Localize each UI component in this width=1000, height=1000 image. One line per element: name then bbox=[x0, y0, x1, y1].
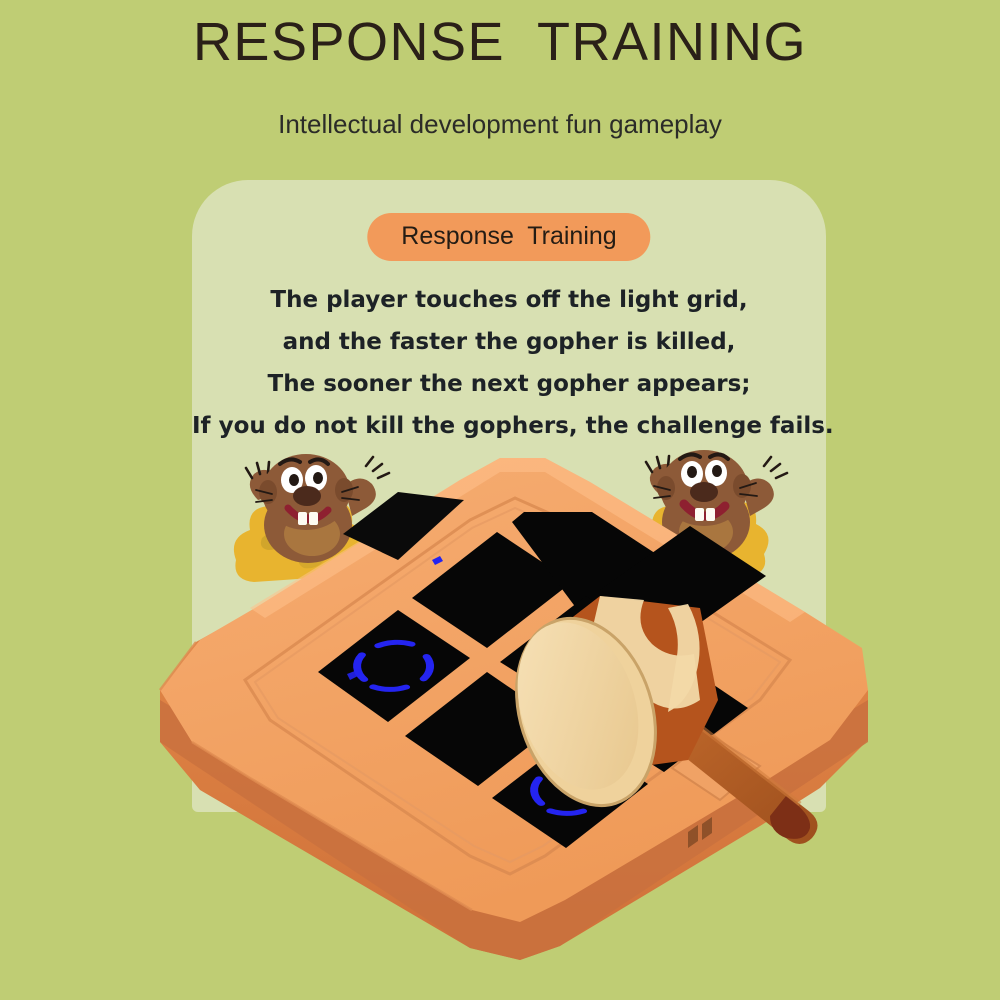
info-card: Response Training The player touches off… bbox=[192, 180, 826, 812]
page-subtitle: Intellectual development fun gameplay bbox=[0, 108, 1000, 140]
speaker-slots bbox=[688, 817, 712, 848]
board-bevel-line bbox=[160, 642, 196, 690]
page-root: RESPONSE TRAINING Intellectual developme… bbox=[0, 0, 1000, 1000]
status-badge: Response Training bbox=[367, 213, 650, 261]
page-title: RESPONSE TRAINING bbox=[0, 12, 1000, 72]
instruction-line: The player touches off the light grid, bbox=[192, 279, 826, 321]
instruction-line: The sooner the next gopher appears; bbox=[192, 363, 826, 405]
instruction-line: and the faster the gopher is killed, bbox=[192, 321, 826, 363]
instruction-line: If you do not kill the gophers, the chal… bbox=[192, 405, 826, 447]
instructions-block: The player touches off the light grid, a… bbox=[192, 279, 826, 447]
